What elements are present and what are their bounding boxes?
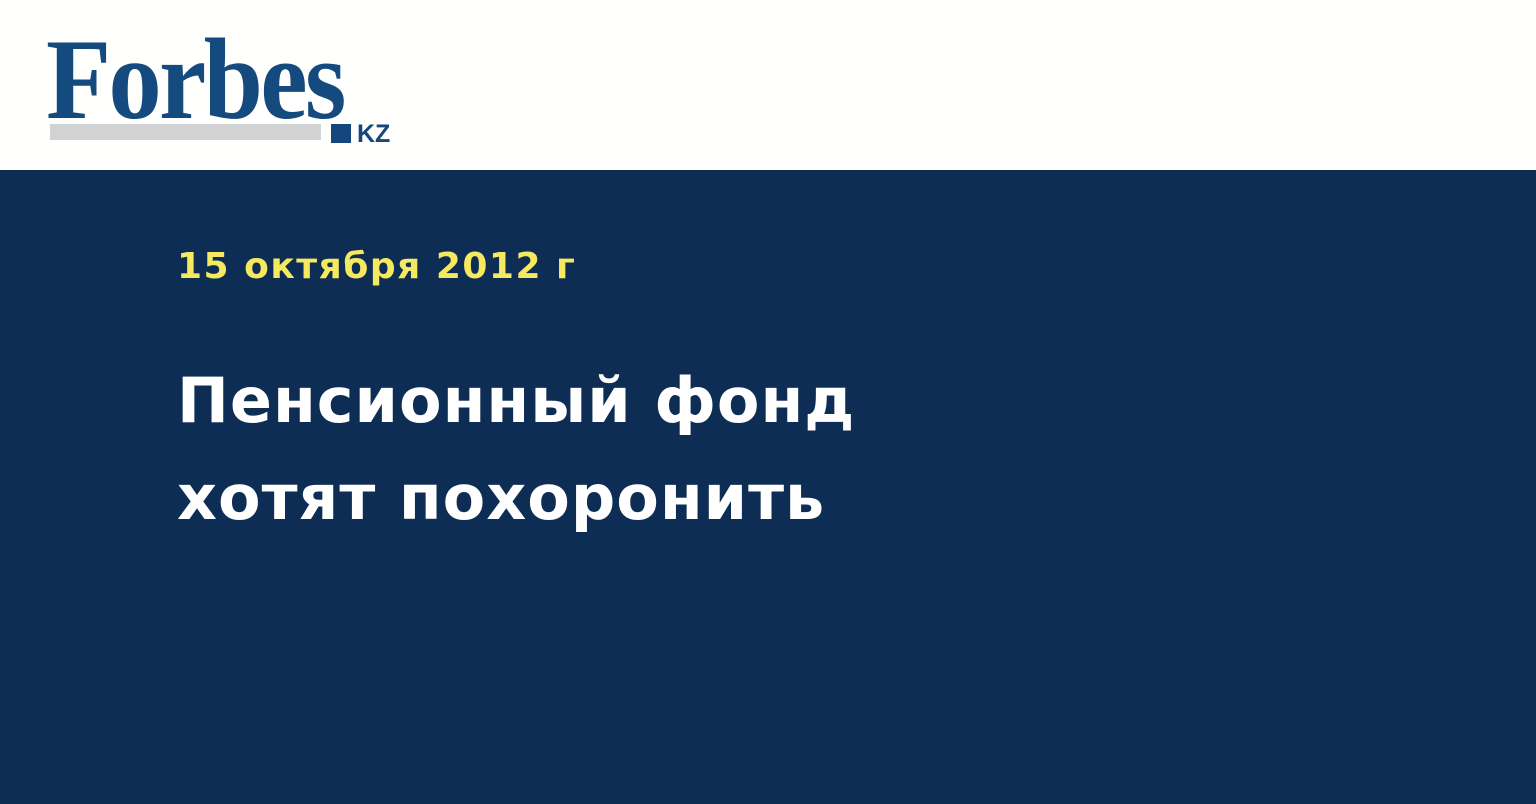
logo-underbar-icon bbox=[50, 124, 321, 140]
article-page: Forbes KZ 15 октября 2012 г Пенсионный ф… bbox=[0, 0, 1536, 804]
logo-square-icon bbox=[331, 124, 351, 143]
article-hero: 15 октября 2012 г Пенсионный фонд хотят … bbox=[0, 170, 1536, 804]
page-title: Пенсионный фонд хотят похоронить bbox=[177, 352, 1077, 546]
forbes-kz-logo[interactable]: Forbes KZ bbox=[50, 22, 410, 147]
logo-kz-label: KZ bbox=[357, 122, 390, 147]
article-date: 15 октября 2012 г bbox=[177, 247, 576, 287]
site-header: Forbes KZ bbox=[0, 0, 1536, 170]
forbes-wordmark: Forbes bbox=[46, 22, 344, 138]
